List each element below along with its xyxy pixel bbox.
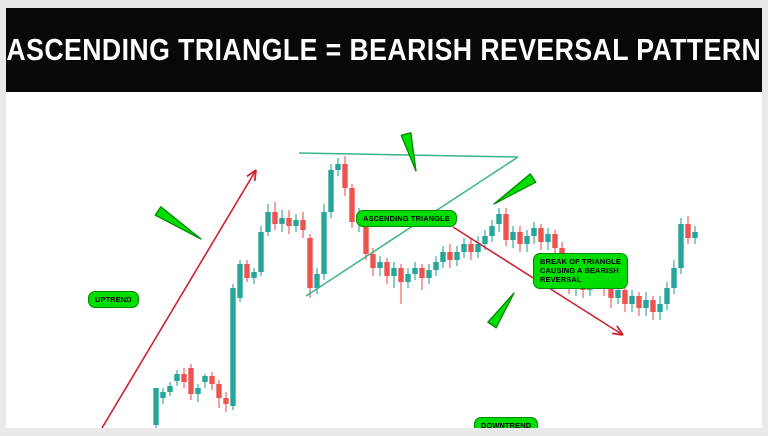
candle-body xyxy=(657,304,662,312)
candle-body xyxy=(370,254,375,268)
candle-body xyxy=(349,188,354,222)
candle-body xyxy=(174,374,179,381)
candle-body xyxy=(181,374,186,382)
candle-body xyxy=(321,212,326,274)
candle-body xyxy=(678,224,683,268)
candle-body xyxy=(412,268,417,274)
candle-body xyxy=(314,274,319,288)
candle-body xyxy=(545,234,550,242)
candle-body xyxy=(391,268,396,276)
candle-body xyxy=(251,272,256,278)
candle-body xyxy=(202,376,207,382)
candle-body xyxy=(692,232,697,238)
candle-body xyxy=(160,392,165,398)
page-title: ASCENDING TRIANGLE = BEARISH REVERSAL PA… xyxy=(7,32,762,68)
candle-body xyxy=(195,388,200,394)
candle-body xyxy=(300,220,305,230)
candle-body xyxy=(531,228,536,236)
candle-body xyxy=(328,170,333,212)
candle-body xyxy=(335,164,340,170)
candle-body xyxy=(230,288,235,406)
candle-body xyxy=(664,288,669,304)
candle-body xyxy=(398,268,403,282)
candle-body xyxy=(461,244,466,252)
candle-body xyxy=(454,252,459,260)
callout-break-of-triangle[interactable]: BREAK OF TRIANGLE CAUSING A BEARISH REVE… xyxy=(533,253,628,289)
candle-body xyxy=(237,264,242,298)
candle-body xyxy=(405,274,410,282)
break-of-triangle-tail xyxy=(494,174,536,204)
candle-body xyxy=(671,268,676,288)
candle-body xyxy=(279,218,284,224)
candle-body xyxy=(384,262,389,276)
candle-body xyxy=(426,270,431,278)
candle-body xyxy=(433,262,438,270)
candle-body xyxy=(258,232,263,272)
candle-body xyxy=(244,264,249,278)
candle-body xyxy=(524,236,529,244)
candle-body xyxy=(286,218,291,226)
candle-body xyxy=(293,220,298,226)
candlestick-series xyxy=(153,156,697,428)
candle-body xyxy=(272,212,277,224)
ascending-triangle-tail xyxy=(401,133,416,171)
pattern-lines-group xyxy=(102,153,623,428)
candle-body xyxy=(468,244,473,252)
candle-body xyxy=(538,228,543,242)
candle-body xyxy=(489,226,494,236)
callout-uptrend[interactable]: UPTREND xyxy=(88,291,139,308)
candle-body xyxy=(223,398,228,404)
candlestick-chart: ASCENDING TRIANGLE BREAK OF TRIANGLE CAU… xyxy=(6,92,762,428)
candle-body xyxy=(153,388,158,425)
candle-body xyxy=(377,262,382,268)
candle-body xyxy=(636,296,641,308)
candle-body xyxy=(629,296,634,304)
callout-downtrend[interactable]: DOWNTREND xyxy=(474,417,538,428)
candle-body xyxy=(615,290,620,298)
candle-body xyxy=(216,384,221,398)
candle-body xyxy=(265,212,270,232)
candle-body xyxy=(503,214,508,240)
uptrend-tail xyxy=(155,207,201,239)
candle-body xyxy=(188,368,193,394)
candle-body xyxy=(552,234,557,248)
downtrend-tail xyxy=(488,293,514,328)
candle-body xyxy=(475,244,480,252)
candle-body xyxy=(496,214,501,224)
candle-body xyxy=(685,224,690,238)
candle-body xyxy=(167,386,172,392)
candle-body xyxy=(510,232,515,240)
candle-body xyxy=(622,290,627,304)
candle-body xyxy=(517,232,522,244)
candle-body xyxy=(482,236,487,244)
candle-body xyxy=(643,300,648,308)
chart-svg xyxy=(6,92,762,428)
header-banner: ASCENDING TRIANGLE = BEARISH REVERSAL PA… xyxy=(6,8,762,92)
candle-body xyxy=(307,238,312,288)
candle-body xyxy=(440,252,445,262)
candle-body xyxy=(419,268,424,278)
candle-body xyxy=(342,164,347,188)
candle-body xyxy=(608,288,613,298)
candle-body xyxy=(650,300,655,312)
callout-ascending-triangle[interactable]: ASCENDING TRIANGLE xyxy=(356,210,457,227)
candle-body xyxy=(447,252,452,260)
candle-body xyxy=(209,376,214,384)
infographic-page: ASCENDING TRIANGLE = BEARISH REVERSAL PA… xyxy=(0,0,768,436)
